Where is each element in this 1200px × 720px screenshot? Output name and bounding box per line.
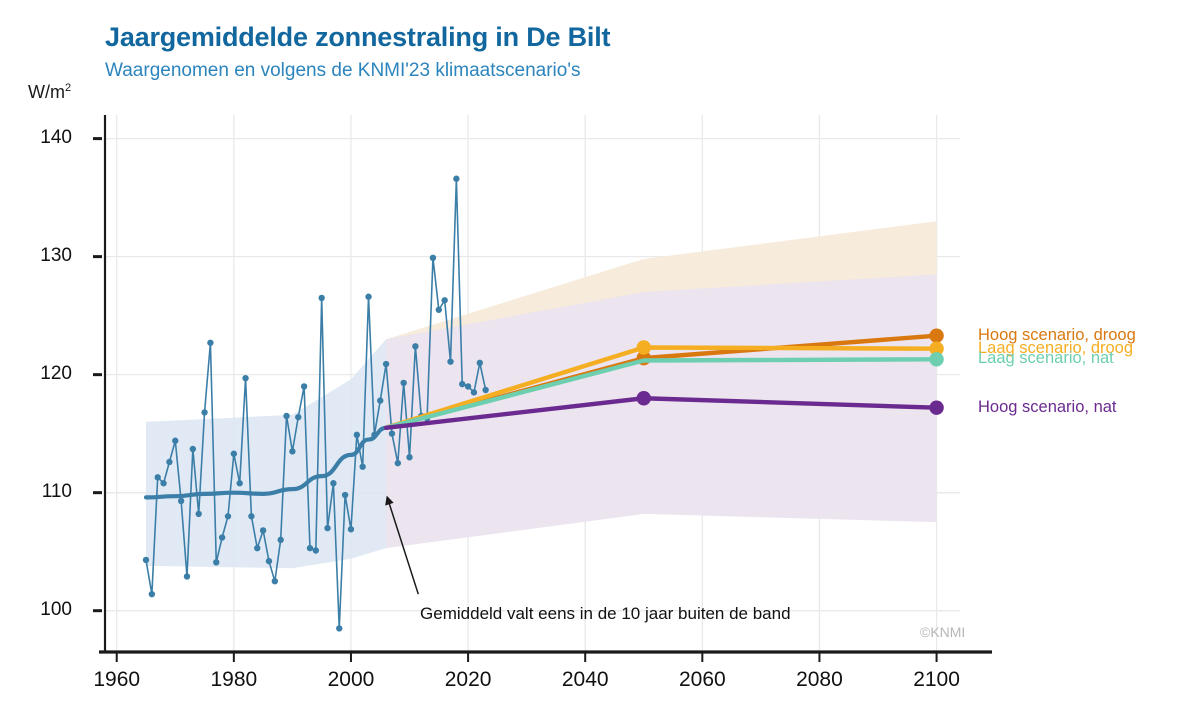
observed-data-point xyxy=(172,438,178,444)
observed-data-point xyxy=(406,454,412,460)
y-tick-label-120: 120 xyxy=(10,363,72,385)
observed-data-point xyxy=(482,387,488,393)
observed-data-point xyxy=(359,464,365,470)
observed-data-point xyxy=(453,176,459,182)
observed-data-point xyxy=(184,573,190,579)
observed-data-point xyxy=(471,389,477,395)
x-tick-label-1960: 1960 xyxy=(72,668,162,692)
observed-data-point xyxy=(289,448,295,454)
observed-data-point xyxy=(348,526,354,532)
y-tick-label-100: 100 xyxy=(10,599,72,621)
observed-data-point xyxy=(365,294,371,300)
y-tick-label-140: 140 xyxy=(10,127,72,149)
observed-data-point xyxy=(330,480,336,486)
observed-data-point xyxy=(336,625,342,631)
observed-data-point xyxy=(225,513,231,519)
observed-data-point xyxy=(459,381,465,387)
observed-data-point xyxy=(447,358,453,364)
observed-data-point xyxy=(248,513,254,519)
observed-data-point xyxy=(231,451,237,457)
observed-data-point xyxy=(178,498,184,504)
observed-data-point xyxy=(190,446,196,452)
observed-data-point xyxy=(477,360,483,366)
y-tick-label-110: 110 xyxy=(10,481,72,503)
observed-data-point xyxy=(207,340,213,346)
observed-data-point xyxy=(266,558,272,564)
observed-data-point xyxy=(196,511,202,517)
scenario-marker-laag_droog xyxy=(637,340,651,354)
observed-data-point xyxy=(160,480,166,486)
observed-data-point xyxy=(201,409,207,415)
x-tick-label-2020: 2020 xyxy=(423,668,513,692)
scenario-marker-hoog_nat xyxy=(637,391,651,405)
observed-data-point xyxy=(236,480,242,486)
x-tick-label-2000: 2000 xyxy=(306,668,396,692)
x-tick-label-2080: 2080 xyxy=(774,668,864,692)
observed-data-point xyxy=(155,474,161,480)
observed-data-point xyxy=(277,537,283,543)
scenario-marker-hoog_nat xyxy=(929,400,943,414)
observed-data-point xyxy=(242,375,248,381)
x-tick-label-2100: 2100 xyxy=(892,668,982,692)
observed-data-point xyxy=(166,459,172,465)
x-tick-label-2060: 2060 xyxy=(657,668,747,692)
y-tick-label-130: 130 xyxy=(10,245,72,267)
observed-data-point xyxy=(219,534,225,540)
observed-data-point xyxy=(400,380,406,386)
observed-data-point xyxy=(149,591,155,597)
observed-data-point xyxy=(143,557,149,563)
observed-data-point xyxy=(272,578,278,584)
observed-data-point xyxy=(213,559,219,565)
copyright-label: ©KNMI xyxy=(920,624,965,640)
scenario-marker-laag_nat xyxy=(929,352,943,366)
annotation-label: Gemiddeld valt eens in de 10 jaar buiten… xyxy=(420,604,790,624)
observed-data-point xyxy=(412,343,418,349)
x-tick-label-1980: 1980 xyxy=(189,668,279,692)
observed-data-point xyxy=(465,383,471,389)
observed-data-point xyxy=(260,527,266,533)
legend-item-3[interactable]: Hoog scenario, nat xyxy=(978,398,1117,417)
observed-data-point xyxy=(283,413,289,419)
observed-data-point xyxy=(307,545,313,551)
observed-data-point xyxy=(254,545,260,551)
scenario-marker-hoog_droog xyxy=(929,329,943,343)
observed-data-point xyxy=(313,547,319,553)
observed-data-point xyxy=(342,492,348,498)
observed-data-point xyxy=(318,295,324,301)
observed-data-point xyxy=(441,297,447,303)
observed-data-point xyxy=(301,383,307,389)
observed-data-point xyxy=(430,255,436,261)
observed-data-point xyxy=(295,414,301,420)
x-tick-label-2040: 2040 xyxy=(540,668,630,692)
observed-data-point xyxy=(377,397,383,403)
observed-data-point xyxy=(389,430,395,436)
legend-item-2[interactable]: Laag scenario, nat xyxy=(978,349,1114,368)
observed-data-point xyxy=(436,307,442,313)
observed-data-point xyxy=(324,525,330,531)
observed-data-point xyxy=(354,432,360,438)
observed-data-point xyxy=(383,361,389,367)
observed-data-point xyxy=(395,460,401,466)
